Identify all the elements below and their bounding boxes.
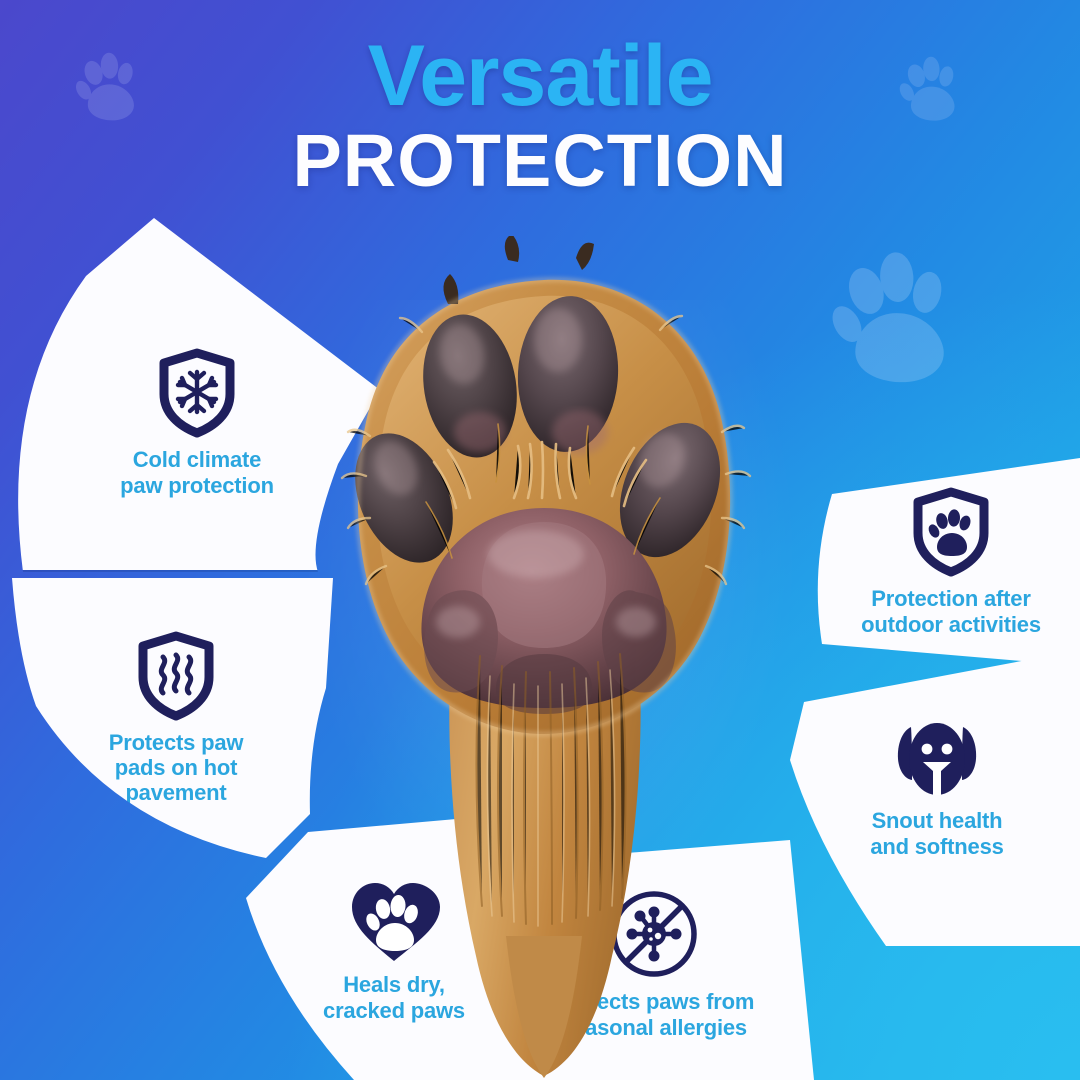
- benefit-card-snout-health[interactable]: Snout health and softness: [770, 650, 1080, 946]
- infographic-poster: Versatile PROTECTION: [0, 0, 1080, 1080]
- benefit-label-hot-pavement: Protects paw pads on hot pavement: [109, 730, 244, 805]
- shield-paw-icon: [909, 487, 993, 582]
- shield-snowflake-icon: [155, 348, 239, 443]
- shield-heatwave-icon: [134, 631, 218, 726]
- benefit-card-outdoor-activities[interactable]: Protection after outdoor activities: [792, 458, 1080, 666]
- benefit-label-cold-climate: Cold climate paw protection: [120, 447, 274, 497]
- dog-paw-photo: [330, 236, 770, 1080]
- page-title: Versatile PROTECTION: [0, 36, 1080, 199]
- benefit-label-outdoor-activities: Protection after outdoor activities: [861, 586, 1041, 636]
- title-line-protection: PROTECTION: [0, 122, 1080, 200]
- dog-head-icon: [889, 717, 985, 804]
- title-line-versatile: Versatile: [0, 36, 1080, 118]
- benefit-card-hot-pavement[interactable]: Protects paw pads on hot pavement: [8, 576, 338, 860]
- benefit-label-snout-health: Snout health and softness: [870, 808, 1003, 858]
